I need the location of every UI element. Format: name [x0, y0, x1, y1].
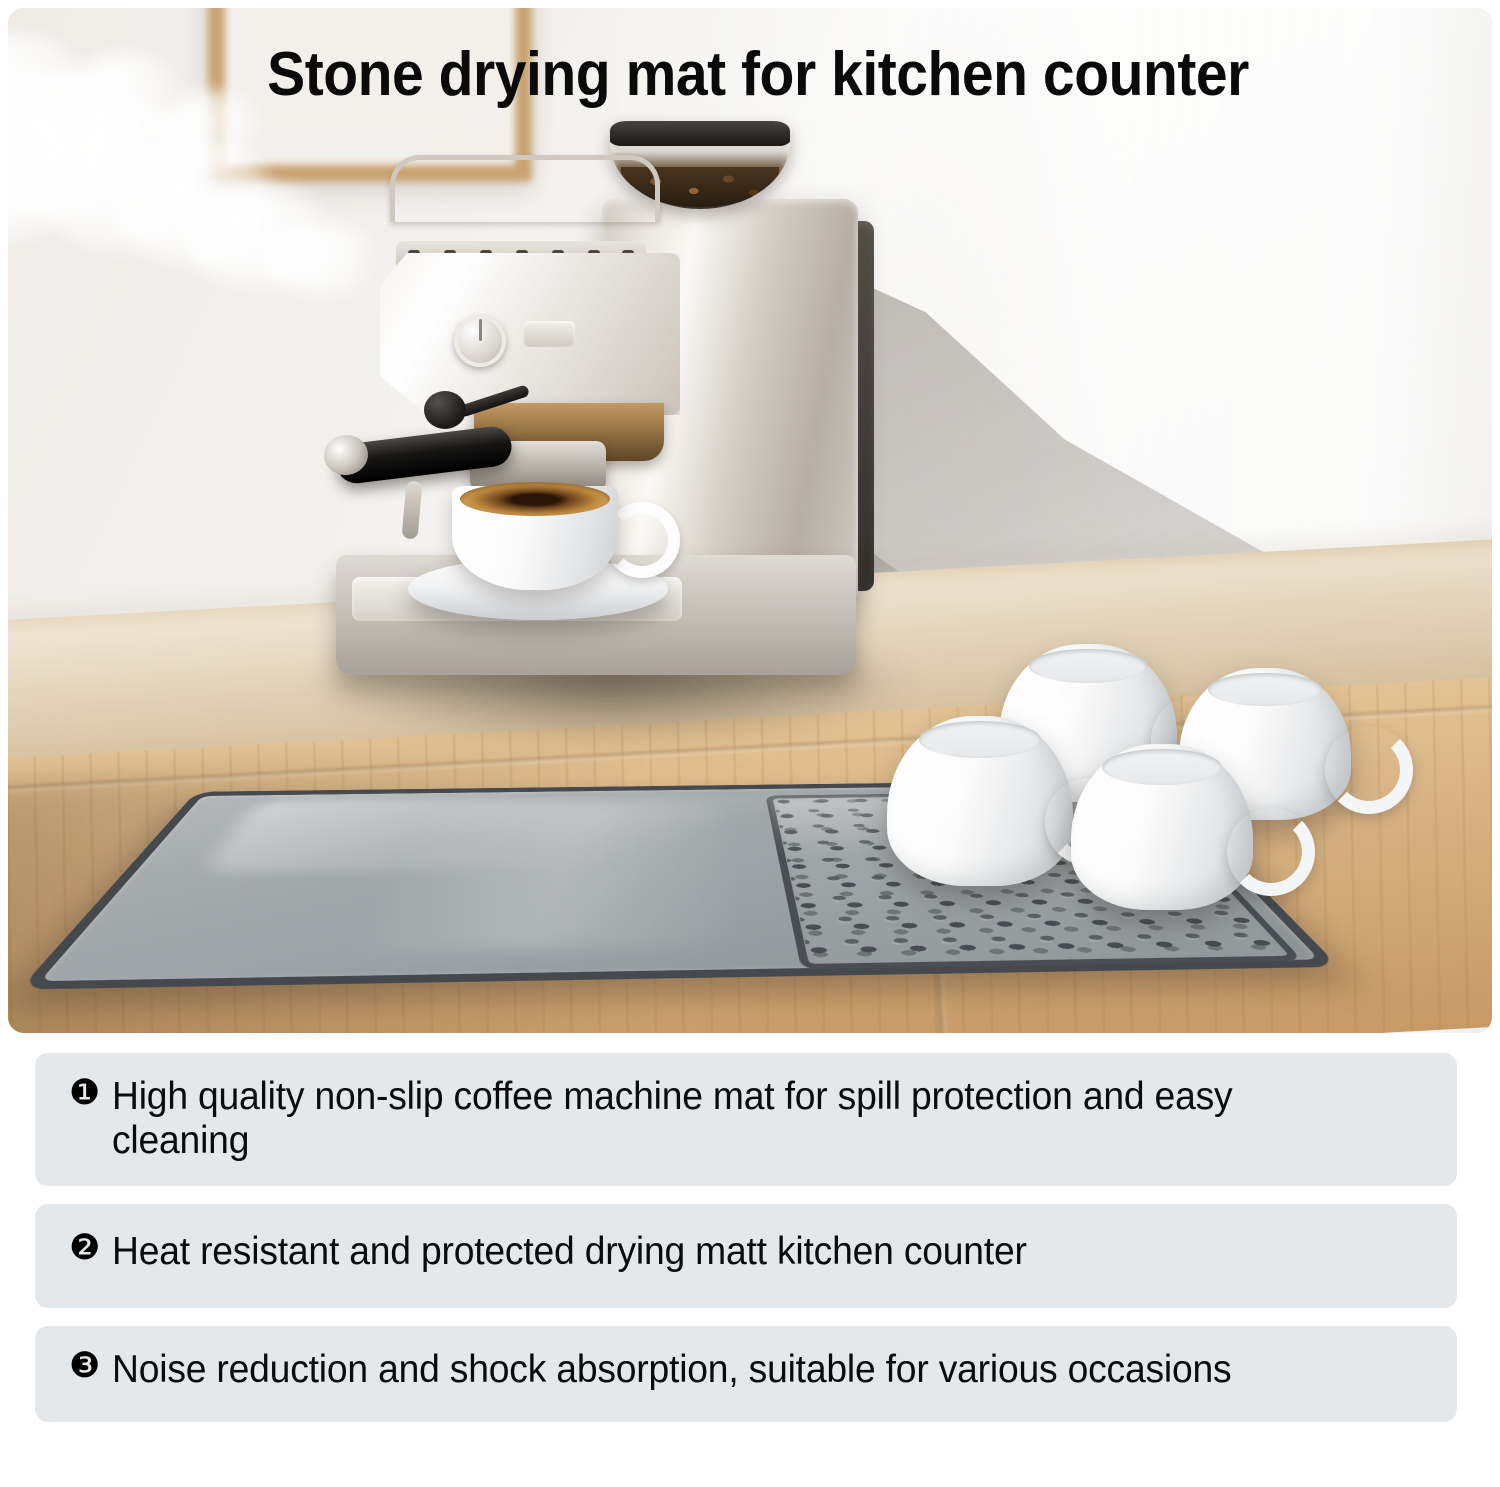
feature-card-2: ❷ Heat resistant and protected drying ma… [35, 1204, 1457, 1308]
cup-warmer-rail [390, 155, 660, 222]
product-listing-image: Stone drying mat for kitchen counter ❶ H… [0, 0, 1500, 1487]
cup-highlight [1093, 781, 1144, 864]
drying-cup [887, 716, 1073, 886]
hopper-lid [610, 121, 790, 146]
feature-number-icon: ❷ [69, 1230, 100, 1267]
cup-handle [1325, 726, 1413, 814]
feature-card-3: ❸ Noise reduction and shock absorption, … [35, 1326, 1457, 1422]
feature-text: Noise reduction and shock absorption, su… [112, 1348, 1231, 1392]
espresso-cup-front [408, 486, 668, 636]
pressure-dial [454, 315, 506, 367]
drying-cup [1071, 744, 1253, 910]
brew-button [523, 321, 575, 347]
feature-text: High quality non-slip coffee machine mat… [112, 1075, 1367, 1162]
cup-handle [1227, 808, 1315, 896]
mat-reflection [365, 803, 738, 952]
feature-number-icon: ❸ [69, 1348, 100, 1385]
feature-card-1: ❶ High quality non-slip coffee machine m… [35, 1053, 1457, 1186]
steam-knob [424, 391, 466, 429]
feature-number-icon: ❶ [69, 1075, 100, 1112]
feature-text: Heat resistant and protected drying matt… [112, 1230, 1027, 1274]
feature-list: ❶ High quality non-slip coffee machine m… [35, 1053, 1457, 1422]
drying-cups-group [853, 608, 1373, 938]
page-title: Stone drying mat for kitchen counter [68, 44, 1448, 106]
hero-product-photo: Stone drying mat for kitchen counter [8, 8, 1492, 1033]
coffee-crema [460, 482, 610, 516]
